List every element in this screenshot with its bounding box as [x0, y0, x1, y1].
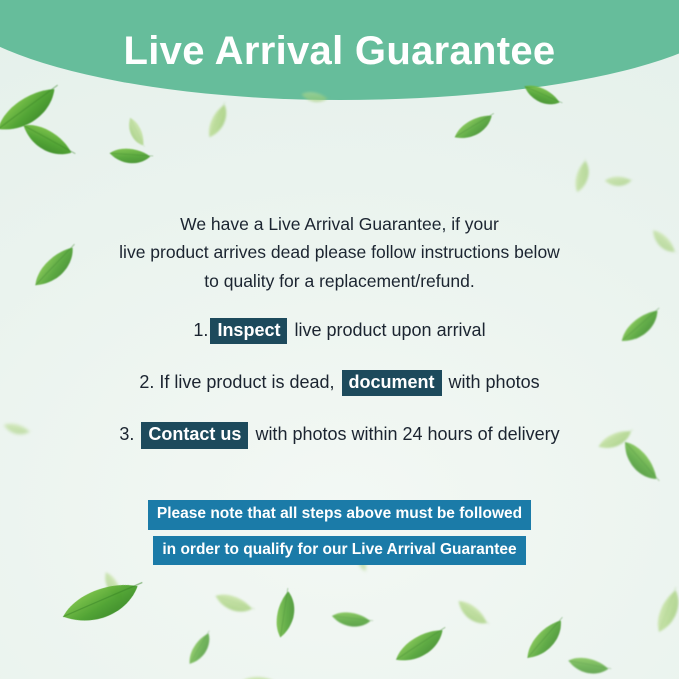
leaf-icon [564, 650, 614, 679]
leaf-icon [603, 173, 635, 191]
step-item-3: 3. Contact us with photos within 24 hour… [30, 422, 649, 448]
step-number-1: 1. [193, 320, 208, 340]
step-text-after-3: with photos within 24 hours of delivery [250, 424, 559, 444]
promo-graphic: Live Arrival Guarantee We have a Live Ar… [0, 0, 679, 679]
leaf-icon [57, 577, 153, 635]
step-highlight-document[interactable]: document [342, 370, 442, 396]
leaf-icon [569, 156, 599, 195]
leaf-icon [268, 585, 307, 642]
leaf-icon [182, 628, 222, 670]
step-text-after-1: live product upon arrival [289, 320, 485, 340]
leaf-icon [1, 418, 34, 442]
step-text-before-2: If live product is dead, [154, 372, 339, 392]
step-item-1: 1.Inspect live product upon arrival [30, 318, 649, 344]
step-highlight-inspect[interactable]: Inspect [210, 318, 287, 344]
step-text-before-3 [134, 424, 139, 444]
note-line-1: Please note that all steps above must be… [148, 500, 531, 530]
leaf-icon [450, 110, 502, 146]
step-text-after-2: with photos [444, 372, 540, 392]
leaf-icon [647, 225, 679, 261]
intro-line-2: live product arrives dead please follow … [50, 238, 629, 266]
leaf-icon [99, 569, 125, 606]
leaf-icon [0, 80, 74, 144]
leaf-icon [518, 613, 578, 667]
leaf-icon [239, 672, 282, 679]
step-number-2: 2. [139, 372, 154, 392]
note-line-2: in order to qualify for our Live Arrival… [153, 536, 525, 566]
leaf-icon [328, 606, 376, 638]
step-item-2: 2. If live product is dead, document wit… [30, 370, 649, 396]
steps-list: 1.Inspect live product upon arrival 2. I… [30, 318, 649, 475]
page-title: Live Arrival Guarantee [0, 28, 679, 74]
intro-line-3: to quality for a replacement/refund. [50, 267, 629, 295]
leaf-icon [201, 99, 239, 142]
intro-line-1: We have a Live Arrival Guarantee, if you… [50, 210, 629, 238]
step-highlight-contact-us[interactable]: Contact us [141, 422, 248, 448]
leaf-icon [452, 594, 492, 636]
intro-paragraph: We have a Live Arrival Guarantee, if you… [50, 210, 629, 295]
leaf-icon [15, 113, 80, 174]
leaf-icon [123, 115, 146, 152]
leaf-icon [389, 623, 457, 671]
step-number-3: 3. [119, 424, 134, 444]
note-banner: Please note that all steps above must be… [0, 500, 679, 565]
leaf-icon [210, 586, 258, 624]
leaf-icon [648, 584, 679, 638]
leaf-icon [106, 142, 156, 173]
